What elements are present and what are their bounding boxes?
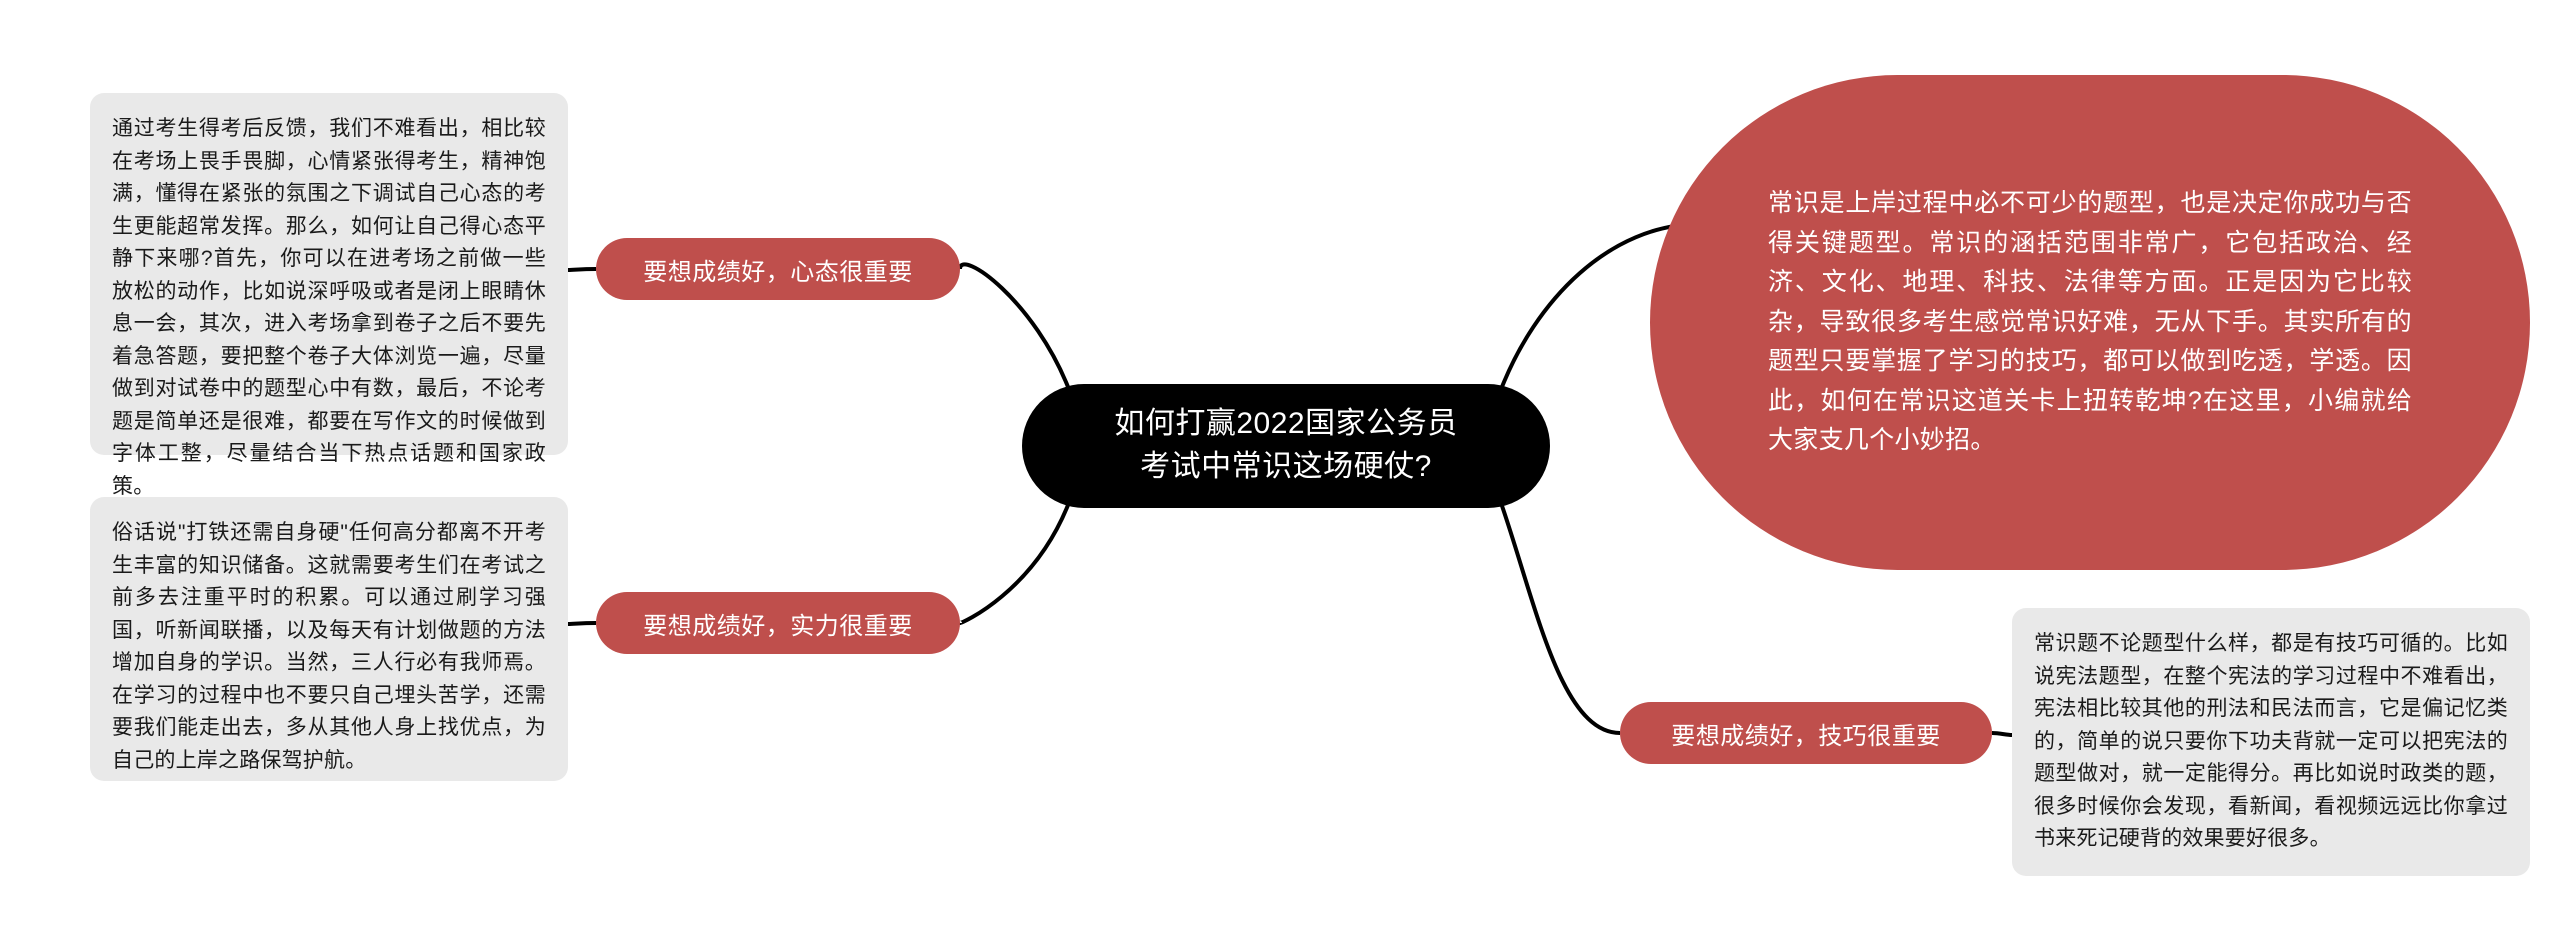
note-card-skills[interactable]: 常识题不论题型什么样，都是有技巧可循的。比如说宪法题型，在整个宪法的学习过程中不… <box>2012 608 2530 876</box>
branch-label-skills: 要想成绩好，技巧很重要 <box>1671 716 1941 751</box>
edge-mindset-to-note <box>568 269 596 270</box>
overview-detail-text: 常识是上岸过程中必不可少的题型，也是决定你成功与否得关键题型。常识的涵括范围非常… <box>1768 184 2412 461</box>
note-card-mindset[interactable]: 通过考生得考后反馈，我们不难看出，相比较在考场上畏手畏脚，心情紧张得考生，精神饱… <box>90 93 568 455</box>
branch-node-mindset[interactable]: 要想成绩好，心态很重要 <box>596 238 960 300</box>
overview-detail-block[interactable]: 常识是上岸过程中必不可少的题型，也是决定你成功与否得关键题型。常识的涵括范围非常… <box>1650 75 2530 570</box>
central-topic-node[interactable]: 如何打赢2022国家公务员 考试中常识这场硬仗? <box>1022 384 1550 508</box>
note-text-skills: 常识题不论题型什么样，都是有技巧可循的。比如说宪法题型，在整个宪法的学习过程中不… <box>2034 628 2508 856</box>
note-text-strength: 俗话说"打铁还需自身硬"任何高分都离不开考生丰富的知识储备。这就需要考生们在考试… <box>112 517 546 777</box>
edge-center-to-strength <box>960 500 1070 623</box>
edge-skills-to-note <box>1992 733 2012 735</box>
mindmap-canvas: 如何打赢2022国家公务员 考试中常识这场硬仗? 要想成绩好，心态很重要 要想成… <box>0 0 2560 941</box>
central-topic-label: 如何打赢2022国家公务员 考试中常识这场硬仗? <box>1114 403 1457 488</box>
note-text-mindset: 通过考生得考后反馈，我们不难看出，相比较在考场上畏手畏脚，心情紧张得考生，精神饱… <box>112 113 546 504</box>
edge-center-to-mindset <box>960 264 1070 392</box>
branch-node-skills[interactable]: 要想成绩好，技巧很重要 <box>1620 702 1992 764</box>
branch-label-mindset: 要想成绩好，心态很重要 <box>643 252 913 287</box>
branch-label-strength: 要想成绩好，实力很重要 <box>643 606 913 641</box>
edge-strength-to-note <box>568 623 596 624</box>
edge-center-to-skills <box>1500 500 1620 733</box>
branch-node-strength[interactable]: 要想成绩好，实力很重要 <box>596 592 960 654</box>
note-card-strength[interactable]: 俗话说"打铁还需自身硬"任何高分都离不开考生丰富的知识储备。这就需要考生们在考试… <box>90 497 568 781</box>
